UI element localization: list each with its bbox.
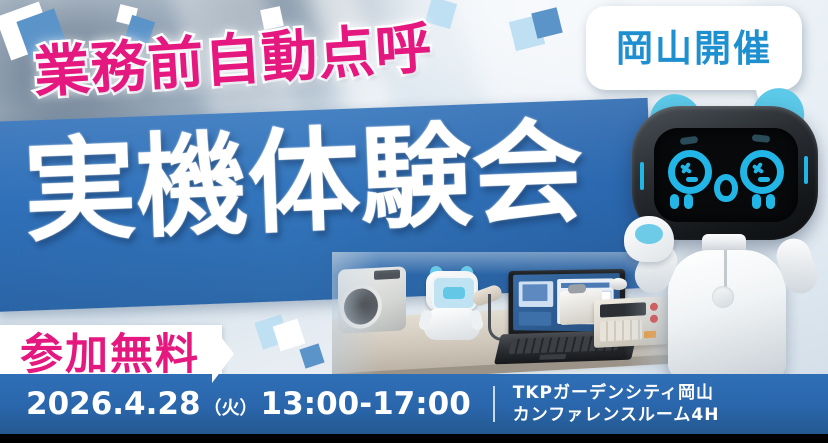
event-poster: 岡山開催 業務前自動点呼: [0, 0, 828, 443]
event-time: 13:00-17:00: [261, 386, 471, 422]
badge-label: 岡山開催: [616, 30, 772, 67]
robot-eye-left-icon: [668, 150, 712, 194]
free-entry-label: 参加無料: [20, 330, 200, 382]
event-date: 2026.4.28: [26, 386, 201, 422]
robot-face-screen: [654, 128, 798, 222]
event-datetime: 2026.4.28 （火） 13:00-17:00: [26, 386, 471, 422]
robot-eye-right-icon: [740, 150, 784, 194]
event-day-of-week: （火）: [204, 394, 258, 420]
ribbon-notch-icon: [212, 325, 234, 383]
venue-line-1: TKPガーデンシティ岡山: [513, 382, 720, 404]
okayama-badge: 岡山開催: [586, 6, 802, 90]
event-venue: TKPガーデンシティ岡山 カンファレンスルーム4H: [513, 382, 720, 427]
venue-line-2: カンファレンスルーム4H: [513, 404, 720, 426]
robot-body: [668, 250, 786, 380]
footer-divider: [493, 386, 495, 422]
robot-arm-left: [622, 216, 682, 288]
equipment-photo: [332, 252, 672, 380]
robot-arm-right: [774, 220, 828, 294]
mascot-robot: [624, 88, 828, 388]
page-title: 実機体験会: [22, 116, 586, 248]
bottom-black-bar: [0, 434, 828, 443]
robot-mouth-icon: [714, 174, 738, 202]
footer-bar: 2026.4.28 （火） 13:00-17:00 TKPガーデンシティ岡山 カ…: [0, 374, 828, 434]
main-title-text: 実機体験会: [22, 116, 586, 248]
badge-bubble: 岡山開催: [586, 6, 802, 90]
